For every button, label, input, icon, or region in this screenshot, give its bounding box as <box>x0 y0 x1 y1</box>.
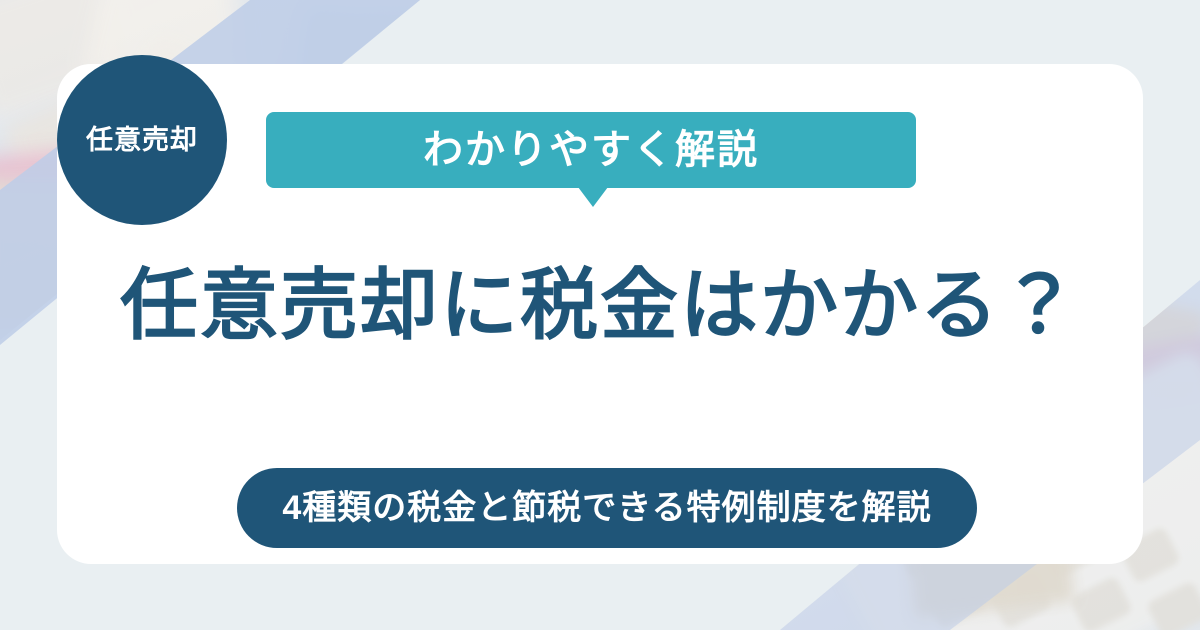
category-badge-label: 任意売却 <box>86 127 198 154</box>
thumbnail-canvas: 任意売却 わかりやすく解説 任意売却に税金はかかる？ 4種類の税金と節税できる特… <box>0 0 1200 630</box>
ribbon-tail-triangle <box>578 187 608 207</box>
category-badge: 任意売却 <box>57 55 227 225</box>
page-title: 任意売却に税金はかかる？ <box>57 262 1143 349</box>
ribbon-banner: わかりやすく解説 <box>266 112 916 188</box>
subtitle-label: 4種類の税金と節税できる特例制度を解説 <box>282 491 931 525</box>
ribbon-banner-label: わかりやすく解説 <box>423 130 759 170</box>
subtitle-pill: 4種類の税金と節税できる特例制度を解説 <box>237 468 977 548</box>
